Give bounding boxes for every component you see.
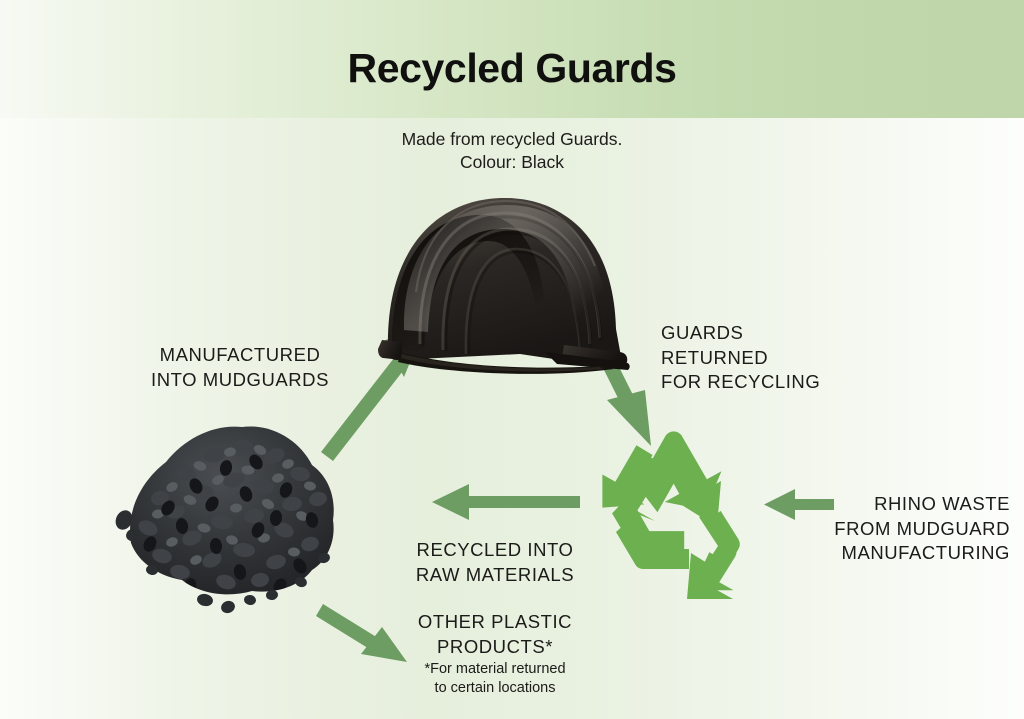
granulate-pile: [113, 426, 334, 615]
label-other-line-1: OTHER PLASTIC: [370, 610, 620, 635]
footnote-line-1: *For material returned: [370, 660, 620, 679]
arrow-rhino-waste-in: [764, 489, 834, 520]
mobius-loop: [602, 431, 739, 590]
label-guards-returned-for-recycling: GUARDS RETURNED FOR RECYCLING: [661, 321, 820, 395]
label-rhino-line-1: RHINO WASTE: [834, 492, 1010, 517]
label-rhino-line-2: FROM MUDGUARD: [834, 517, 1010, 542]
label-recycled-into-raw-materials: RECYCLED INTO RAW MATERIALS: [370, 538, 620, 587]
label-raw-line-1: RECYCLED INTO: [370, 538, 620, 563]
label-returned-line-3: FOR RECYCLING: [661, 370, 820, 395]
subtitle: Made from recycled Guards. Colour: Black: [0, 128, 1024, 174]
label-rhino-waste-from-mudguard-manufacturing: RHINO WASTE FROM MUDGUARD MANUFACTURING: [834, 492, 1010, 566]
label-other-plastic-products: OTHER PLASTIC PRODUCTS*: [370, 610, 620, 659]
label-returned-line-2: RETURNED: [661, 346, 820, 371]
label-manufactured-line-2: INTO MUDGUARDS: [90, 368, 390, 393]
mobius-bands: [609, 446, 737, 599]
mudguard-body: [378, 198, 630, 374]
label-manufactured-into-mudguards: MANUFACTURED INTO MUDGUARDS: [90, 343, 390, 392]
footnote-line-2: to certain locations: [370, 679, 620, 698]
subtitle-line-2: Colour: Black: [0, 151, 1024, 174]
label-rhino-line-3: MANUFACTURING: [834, 541, 1010, 566]
page-title: Recycled Guards: [0, 48, 1024, 89]
label-other-line-2: PRODUCTS*: [370, 635, 620, 660]
label-raw-line-2: RAW MATERIALS: [370, 563, 620, 588]
label-manufactured-line-1: MANUFACTURED: [90, 343, 390, 368]
subtitle-line-1: Made from recycled Guards.: [0, 128, 1024, 151]
footnote-other-plastic-products: *For material returned to certain locati…: [370, 660, 620, 698]
arrow-recycled-into-raw-materials: [432, 484, 580, 520]
infographic-page: Recycled Guards Made from recycled Guard…: [0, 0, 1024, 719]
label-returned-line-1: GUARDS: [661, 321, 820, 346]
granulate-crumbs: [113, 508, 332, 615]
arrow-guards-returned-for-recycling: [585, 325, 651, 446]
